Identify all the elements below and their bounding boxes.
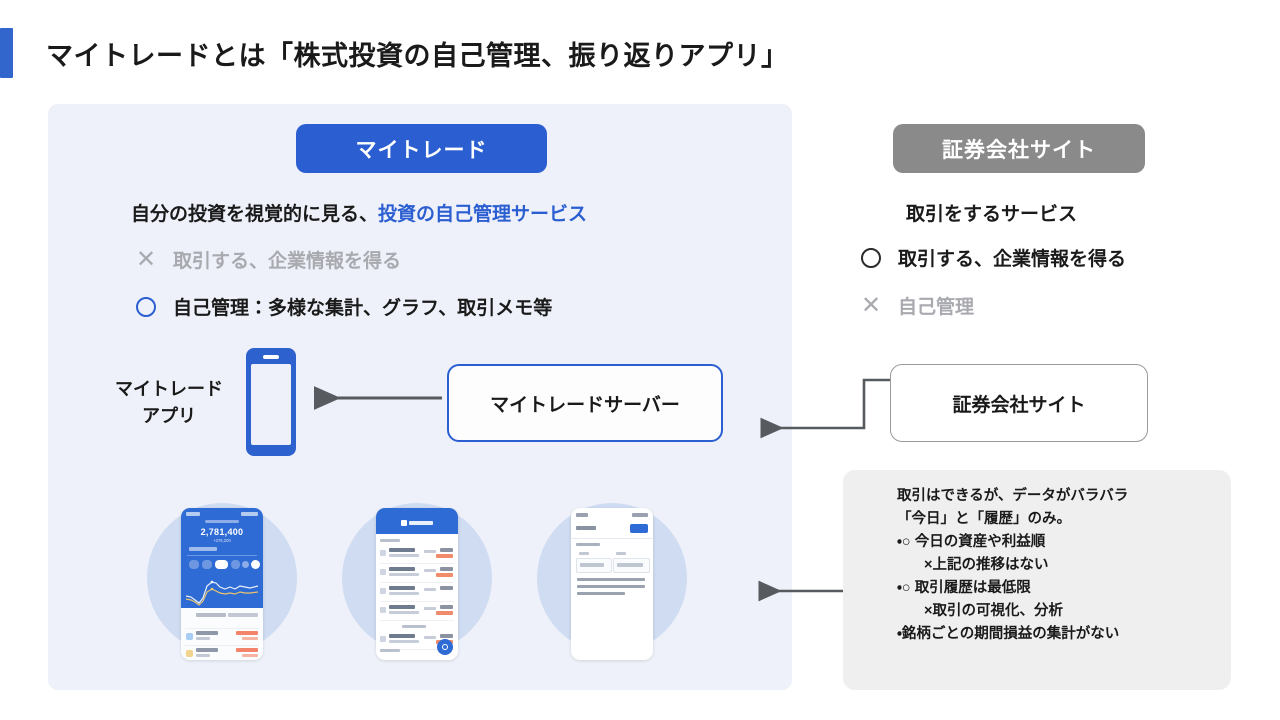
- mytrade-app-label-line2: アプリ: [94, 403, 244, 430]
- mytrade-bullet-1: ✕ 取引する、企業情報を得る: [131, 246, 401, 273]
- broker-bullet-2: ✕ 自己管理: [856, 292, 974, 319]
- smartphone-icon: [246, 348, 296, 456]
- broker-site-box: 証券会社サイト: [890, 364, 1148, 442]
- mytrade-header-pill: マイトレード: [296, 124, 547, 173]
- segment-3-selected: [215, 560, 228, 569]
- subtotal-label: [402, 625, 426, 628]
- broker-header-pill: 証券会社サイト: [893, 124, 1145, 173]
- trade-memo-screenshot: [571, 508, 653, 660]
- status-bar: [186, 512, 258, 517]
- list-header: [376, 508, 458, 534]
- segment-1: [189, 560, 199, 569]
- broker-site-label: 証券会社サイト: [952, 390, 1085, 417]
- mytrade-pill-label: マイトレード: [356, 134, 488, 164]
- note-line-1: 取引はできるが、データがバラバラ: [897, 485, 1227, 508]
- mytrade-app-label-line1: マイトレード: [94, 376, 244, 403]
- table-row: [380, 565, 454, 583]
- holdings-list-screenshot: [376, 508, 458, 660]
- compose-fab-button[interactable]: [437, 639, 453, 655]
- note-line-4: ×上記の推移はない: [897, 554, 1227, 577]
- broker-limitations-note-list: 取引はできるが、データがバラバラ 「今日」と「履歴」のみ。 ・○ 今日の資産や利…: [897, 485, 1227, 646]
- mytrade-lead-highlight: 投資の自己管理サービス: [378, 204, 587, 225]
- dashboard-screenshot: 2,781,400 +376,200: [181, 508, 263, 660]
- broker-pill-label: 証券会社サイト: [942, 134, 1096, 164]
- arrow-broker-to-server: [752, 372, 902, 452]
- list-item: [185, 629, 259, 646]
- table-row: [380, 584, 454, 602]
- segment-icon: [242, 561, 249, 568]
- status-bar: [576, 513, 648, 518]
- divider: [187, 555, 257, 556]
- dashboard-caption-bar: [205, 520, 239, 523]
- field-1[interactable]: [576, 558, 612, 573]
- smartphone-screen: [251, 364, 291, 445]
- note-line-3: ・○ 今日の資産や利益順: [897, 531, 1227, 554]
- table-row: [380, 603, 454, 621]
- page-title: マイトレードとは「株式投資の自己管理、振り返りアプリ」: [46, 34, 789, 73]
- total-assets-change: +376,200: [181, 538, 263, 543]
- circle-icon: [131, 297, 161, 317]
- mytrade-server-box: マイトレードサーバー: [447, 364, 723, 442]
- note-line-7: ・銘柄ごとの期間損益の集計がない: [897, 623, 1227, 646]
- segment-4: [231, 560, 240, 569]
- memo-body-line: [577, 592, 625, 595]
- cross-icon: ✕: [131, 248, 161, 272]
- section-label: [380, 649, 400, 652]
- dashboard-section-label: [189, 547, 217, 551]
- table-row: [380, 546, 454, 564]
- broker-bullet-2-label: 自己管理: [898, 292, 974, 319]
- arrow-server-to-phone: [310, 385, 450, 411]
- smartphone-speaker: [263, 355, 279, 359]
- cross-icon: ✕: [856, 294, 886, 318]
- section-label: [380, 539, 400, 542]
- mytrade-server-label: マイトレードサーバー: [490, 390, 680, 417]
- mytrade-bullet-2: 自己管理：多様な集計、グラフ、取引メモ等: [131, 293, 552, 320]
- assets-line-chart: [186, 574, 258, 606]
- mytrade-logo: [401, 520, 433, 526]
- note-line-6: ×取引の可視化、分析: [897, 600, 1227, 623]
- mytrade-bullet-1-label: 取引する、企業情報を得る: [173, 246, 401, 273]
- note-line-5: ・○ 取引履歴は最低限: [897, 577, 1227, 600]
- list-item: [185, 612, 259, 629]
- segment-2: [202, 560, 212, 569]
- memo-subtitle: [576, 543, 600, 546]
- memo-title: [576, 526, 596, 530]
- mytrade-lead-text: 自分の投資を視覚的に見る、投資の自己管理サービス: [131, 199, 587, 226]
- list-item: [185, 646, 259, 660]
- field-label-1: [579, 552, 589, 555]
- field-label-2: [616, 552, 626, 555]
- memo-body-line: [577, 585, 645, 588]
- total-assets-value: 2,781,400: [181, 527, 263, 537]
- holdings-preview-list: [181, 608, 263, 660]
- mytrade-lead-plain: 自分の投資を視覚的に見る、: [131, 204, 378, 225]
- broker-bullet-1: 取引する、企業情報を得る: [856, 244, 1126, 271]
- mytrade-app-label: マイトレード アプリ: [94, 376, 244, 430]
- broker-lead-text: 取引をするサービス: [906, 199, 1077, 226]
- mytrade-bullet-2-label: 自己管理：多様な集計、グラフ、取引メモ等: [173, 293, 552, 320]
- avatar: [251, 560, 260, 569]
- save-button[interactable]: [630, 524, 648, 533]
- field-2[interactable]: [613, 558, 650, 573]
- divider: [571, 538, 653, 539]
- title-accent-bar: [0, 28, 13, 78]
- note-line-2: 「今日」と「履歴」のみ。: [897, 508, 1227, 531]
- dashboard-header: 2,781,400 +376,200: [181, 508, 263, 608]
- broker-bullet-1-label: 取引する、企業情報を得る: [898, 244, 1126, 271]
- circle-icon: [856, 248, 886, 268]
- memo-body-line: [577, 578, 645, 581]
